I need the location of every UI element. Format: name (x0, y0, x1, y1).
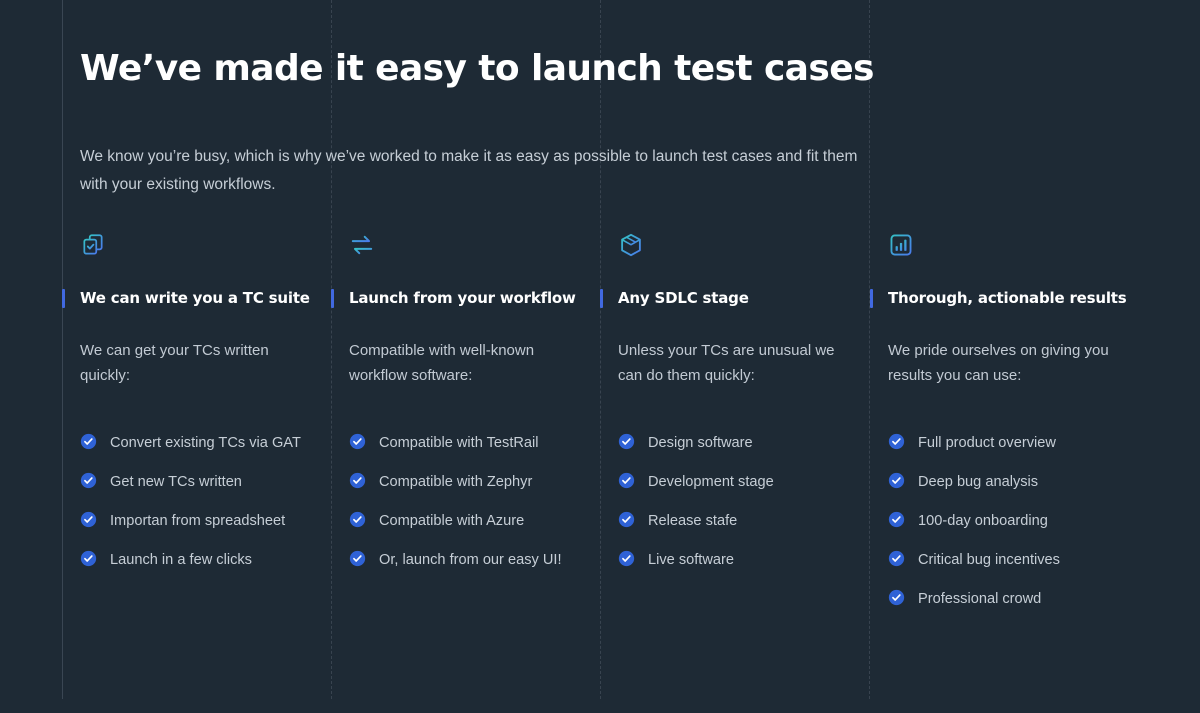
check-circle-icon (618, 550, 635, 567)
page-title: We’ve made it easy to launch test cases (80, 48, 874, 89)
list-item-label: Full product overview (918, 435, 1056, 451)
section-subtitle: We know you’re busy, which is why we’ve … (80, 143, 870, 199)
list-item: Live software (618, 549, 868, 571)
bar-chart-square-icon (888, 232, 914, 258)
check-circle-icon (80, 511, 97, 528)
feature-column-3: Any SDLC stage Unless your TCs are unusu… (618, 232, 868, 588)
list-item-label: 100-day onboarding (918, 513, 1048, 529)
accent-bar (600, 289, 603, 308)
list-item: Release stafe (618, 510, 868, 532)
list-item: Launch in a few clicks (80, 549, 330, 571)
list-item-label: Design software (648, 435, 753, 451)
feature-list-4: Full product overview Deep bug analysis … (888, 432, 1138, 610)
list-item: Critical bug incentives (888, 549, 1138, 571)
check-circle-icon (888, 511, 905, 528)
list-item-label: Compatible with Azure (379, 513, 524, 529)
list-item: Professional crowd (888, 588, 1138, 610)
check-circle-icon (349, 433, 366, 450)
list-item: Compatible with TestRail (349, 432, 599, 454)
feature-list-3: Design software Development stage Releas… (618, 432, 868, 571)
feature-title-4: Thorough, actionable results (888, 289, 1138, 308)
list-item: Importan from spreadsheet (80, 510, 330, 532)
check-circle-icon (888, 433, 905, 450)
list-item-label: Get new TCs written (110, 474, 242, 490)
feature-description-1: We can get your TCs written quickly: (80, 338, 320, 388)
feature-description-3: Unless your TCs are unusual we can do th… (618, 338, 858, 388)
accent-bar (331, 289, 334, 308)
list-item: Or, launch from our easy UI! (349, 549, 599, 571)
feature-heading-row-1: We can write you a TC suite (80, 289, 330, 311)
list-item: Compatible with Azure (349, 510, 599, 532)
accent-bar (62, 289, 65, 308)
list-item: 100-day onboarding (888, 510, 1138, 532)
check-circle-icon (618, 433, 635, 450)
list-item-label: Importan from spreadsheet (110, 513, 285, 529)
check-circle-icon (618, 472, 635, 489)
check-circle-icon (80, 433, 97, 450)
check-circle-icon (618, 511, 635, 528)
list-item-label: Release stafe (648, 513, 737, 529)
feature-heading-row-3: Any SDLC stage (618, 289, 868, 311)
list-item-label: Launch in a few clicks (110, 552, 252, 568)
feature-column-grid: We can write you a TC suite We can get y… (0, 232, 1200, 672)
feature-description-2: Compatible with well-known workflow soft… (349, 338, 589, 388)
check-circle-icon (80, 550, 97, 567)
feature-column-1: We can write you a TC suite We can get y… (80, 232, 330, 588)
list-item: Full product overview (888, 432, 1138, 454)
exchange-arrows-icon (349, 232, 375, 258)
list-item: Get new TCs written (80, 471, 330, 493)
list-item-label: Compatible with TestRail (379, 435, 539, 451)
check-circle-icon (888, 589, 905, 606)
feature-title-1: We can write you a TC suite (80, 289, 330, 308)
clipboard-check-copy-icon (80, 232, 106, 258)
list-item-label: Live software (648, 552, 734, 568)
check-circle-icon (80, 472, 97, 489)
feature-list-2: Compatible with TestRail Compatible with… (349, 432, 599, 571)
feature-column-4: Thorough, actionable results We pride ou… (888, 232, 1138, 627)
list-item: Design software (618, 432, 868, 454)
feature-title-3: Any SDLC stage (618, 289, 868, 308)
list-item-label: Compatible with Zephyr (379, 474, 532, 490)
feature-section: We’ve made it easy to launch test cases … (0, 0, 1200, 713)
feature-heading-row-4: Thorough, actionable results (888, 289, 1138, 311)
feature-heading-row-2: Launch from your workflow (349, 289, 599, 311)
list-item-label: Professional crowd (918, 591, 1041, 607)
list-item: Compatible with Zephyr (349, 471, 599, 493)
feature-list-1: Convert existing TCs via GAT Get new TCs… (80, 432, 330, 571)
check-circle-icon (888, 472, 905, 489)
list-item-label: Critical bug incentives (918, 552, 1060, 568)
check-circle-icon (888, 550, 905, 567)
list-item: Deep bug analysis (888, 471, 1138, 493)
feature-description-4: We pride ourselves on giving you results… (888, 338, 1128, 388)
check-circle-icon (349, 511, 366, 528)
list-item-label: Deep bug analysis (918, 474, 1038, 490)
list-item-label: Or, launch from our easy UI! (379, 552, 562, 568)
list-item: Development stage (618, 471, 868, 493)
feature-column-2: Launch from your workflow Compatible wit… (349, 232, 599, 588)
check-circle-icon (349, 472, 366, 489)
accent-bar (870, 289, 873, 308)
list-item-label: Development stage (648, 474, 774, 490)
cube-box-icon (618, 232, 644, 258)
list-item-label: Convert existing TCs via GAT (110, 435, 301, 451)
feature-title-2: Launch from your workflow (349, 289, 599, 308)
check-circle-icon (349, 550, 366, 567)
list-item: Convert existing TCs via GAT (80, 432, 330, 454)
